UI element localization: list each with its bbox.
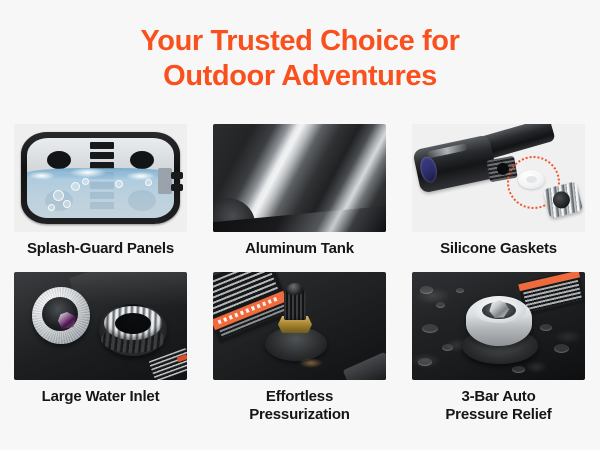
feature-grid: Splash-Guard Panels Aluminum Tank (14, 124, 586, 424)
splash-guard-panels-image (14, 124, 187, 232)
feature-caption: Silicone Gaskets (412, 240, 585, 258)
feature-grid-page: Your Trusted Choice for Outdoor Adventur… (0, 0, 600, 450)
feature-caption: Effortless Pressurization (213, 388, 386, 424)
large-water-inlet-image (14, 272, 187, 380)
page-title: Your Trusted Choice for Outdoor Adventur… (0, 24, 600, 94)
silicone-gaskets-image (412, 124, 585, 232)
effortless-pressurization-image (213, 272, 386, 380)
feature-caption-line-1: Effortless (266, 388, 333, 405)
feature-caption-line-2: Pressurization (249, 406, 350, 423)
feature-caption-line-2: Pressure Relief (445, 406, 551, 423)
feature-card-splash-guard-panels[interactable]: Splash-Guard Panels (14, 124, 187, 258)
feature-card-aluminum-tank[interactable]: Aluminum Tank (213, 124, 386, 258)
feature-caption: Large Water Inlet (14, 388, 187, 406)
feature-card-effortless-pressurization[interactable]: Effortless Pressurization (213, 272, 386, 424)
feature-caption: 3-Bar Auto Pressure Relief (412, 388, 585, 424)
feature-caption: Splash-Guard Panels (14, 240, 187, 258)
feature-caption-line-1: 3-Bar Auto (461, 388, 535, 405)
aluminum-tank-image (213, 124, 386, 232)
feature-caption: Aluminum Tank (213, 240, 386, 258)
pressure-relief-image (412, 272, 585, 380)
feature-card-silicone-gaskets[interactable]: Silicone Gaskets (412, 124, 585, 258)
page-title-line-2: Outdoor Adventures (0, 59, 600, 94)
feature-card-pressure-relief[interactable]: 3-Bar Auto Pressure Relief (412, 272, 585, 424)
feature-card-large-water-inlet[interactable]: Large Water Inlet (14, 272, 187, 424)
page-title-line-1: Your Trusted Choice for (141, 25, 460, 57)
